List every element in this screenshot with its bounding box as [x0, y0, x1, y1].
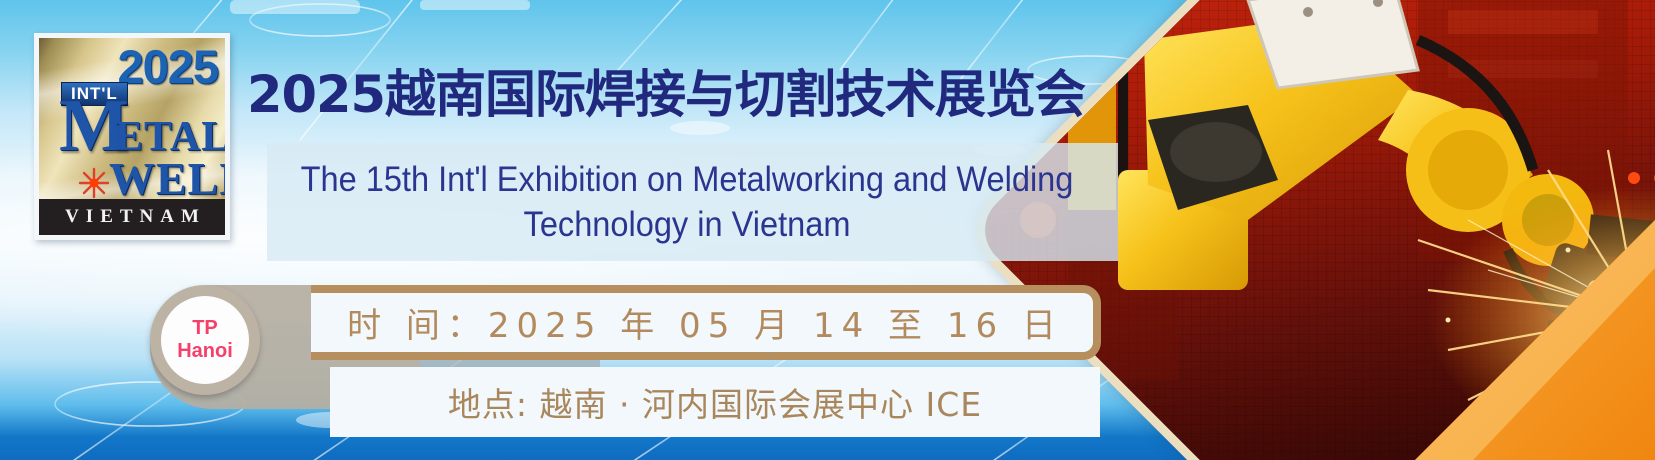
badge-line-2: Hanoi	[177, 340, 233, 363]
exhibition-banner: 2025 INT'L M ETAL WELD VIETNAM 2025越南国际焊…	[0, 0, 1655, 460]
logo-country-text: VIETNAM	[58, 206, 206, 228]
badge-line-1: TP	[192, 317, 218, 340]
logo-country-band: VIETNAM	[39, 199, 225, 235]
logo-etal-text: ETAL	[115, 116, 225, 158]
date-bar: 时 间：2025 年 05 月 14 至 16 日	[311, 285, 1101, 360]
page-title: 2025越南国际焊接与切割技术展览会	[247, 70, 1085, 121]
logo-year-text: 2025	[117, 43, 218, 90]
venue-text: 地点: 越南 · 河内国际会展中心 ICE	[448, 378, 982, 426]
venue-bar: 地点: 越南 · 河内国际会展中心 ICE	[330, 367, 1100, 437]
tp-hanoi-badge: TP Hanoi	[150, 285, 260, 395]
date-text: 时 间：2025 年 05 月 14 至 16 日	[341, 298, 1063, 347]
spark-icon	[77, 166, 111, 200]
tp-hanoi-badge-inner: TP Hanoi	[161, 296, 249, 384]
subtitle-line-1: The 15th Int'l Exhibition on Metalworkin…	[278, 158, 1096, 203]
logo-weld-text: WELD	[109, 156, 225, 202]
subtitle: The 15th Int'l Exhibition on Metalworkin…	[278, 158, 1096, 248]
orange-corner-accent	[1395, 220, 1655, 460]
subtitle-line-2: Technology in Vietnam	[278, 203, 1096, 248]
metal-weld-vietnam-logo: 2025 INT'L M ETAL WELD VIETNAM	[34, 33, 230, 240]
